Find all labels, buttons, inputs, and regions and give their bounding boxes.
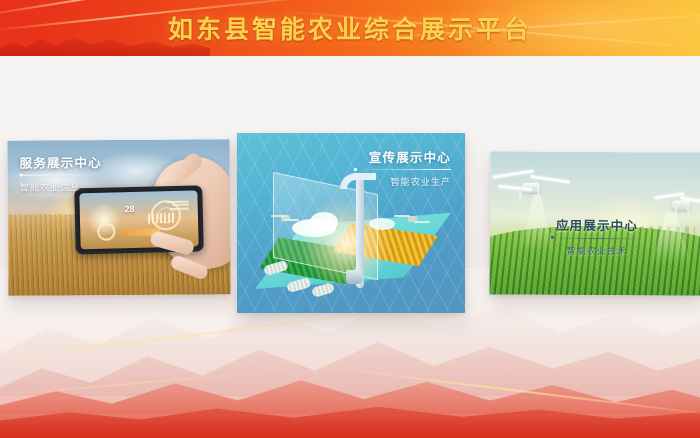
card-service-divider [20,174,102,176]
card-application-text: 应用展示中心 智能农业技术 [547,215,647,258]
hud-bar-2 [172,204,188,206]
hud-small-ring-icon [96,222,114,240]
drone-icon-2 [397,212,427,226]
card-application-divider [547,238,647,240]
card-promotion-divider [355,169,451,170]
card-service-display-center[interactable]: 28 服务展示中心 智能农业信息 [7,139,230,296]
card-promotion-display-center[interactable]: 宣传展示中心 智能农业生产 [237,133,465,313]
header-banner: 如东县智能农业综合展示平台 [0,0,700,56]
hud-bar-1 [166,200,188,203]
hud-temperature-readout: 28 [124,204,134,214]
hud-bar-graph-icon [148,213,174,224]
drone-icon-left [492,163,570,205]
card-promotion-title: 宣传展示中心 [355,147,451,166]
card-service-text: 服务展示中心 智能农业信息 [20,152,102,194]
card-application-subtitle: 智能农业技术 [547,244,647,258]
iso-bucket-icon [346,270,362,284]
drone-icon-right [654,187,700,217]
card-service-subtitle: 智能农业信息 [20,180,102,194]
card-promotion-text: 宣传展示中心 智能农业生产 [355,147,451,188]
drone-icon-1 [273,212,297,224]
card-service-title: 服务展示中心 [20,152,102,172]
page-title: 如东县智能农业综合展示平台 [0,0,700,56]
card-application-title: 应用展示中心 [547,215,647,235]
card-promotion-subtitle: 智能农业生产 [355,175,451,188]
card-application-display-center[interactable]: 应用展示中心 智能农业技术 [490,151,700,295]
hud-bar-3 [169,207,188,209]
